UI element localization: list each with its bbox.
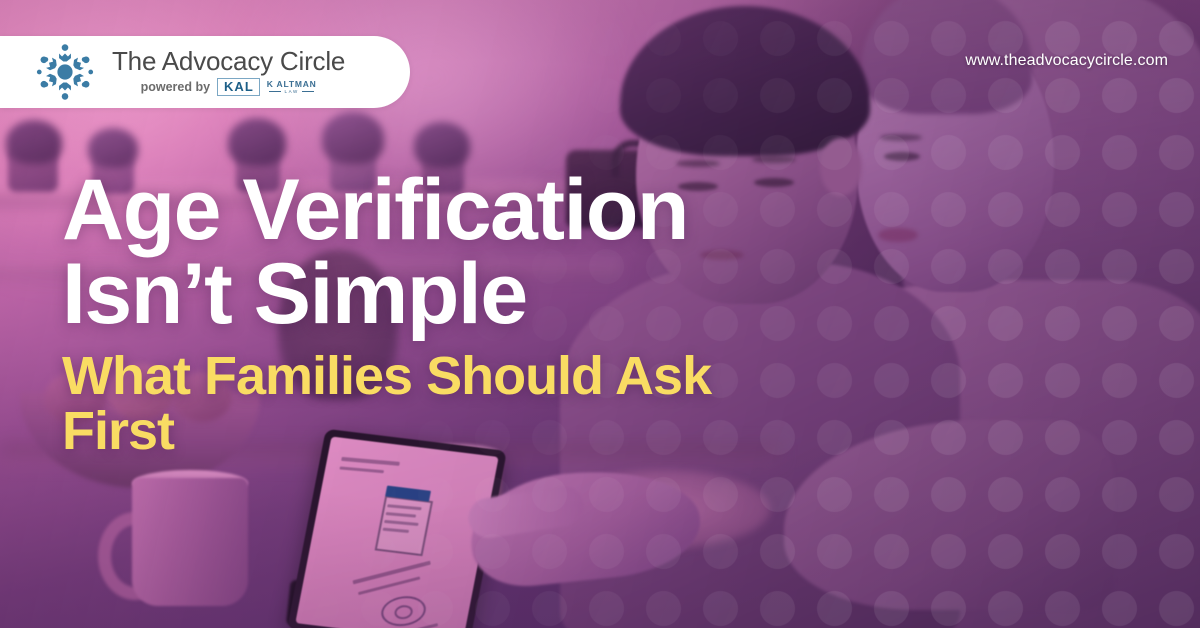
brand-title: The Advocacy Circle — [112, 48, 345, 75]
plant-foliage — [6, 120, 62, 164]
document-seal-icon — [380, 594, 426, 628]
woman-eye — [884, 152, 920, 161]
woman-eyebrow — [880, 134, 922, 141]
circle-of-people-icon — [32, 39, 98, 105]
rule-right — [302, 91, 314, 92]
partner-name-main: K ALTMAN — [267, 80, 317, 89]
plant-foliage — [228, 118, 286, 166]
partner-name-sub: LAW — [284, 90, 298, 95]
ceramic-mug — [132, 478, 248, 606]
woman-lips — [878, 228, 918, 242]
website-url[interactable]: www.theadvocacycircle.com — [965, 52, 1168, 70]
plant-foliage — [322, 112, 384, 164]
powered-by-label: powered by — [141, 80, 210, 94]
document-photo-box — [375, 495, 433, 556]
powered-by-row: powered by KAL K ALTMAN LAW — [141, 78, 317, 96]
kal-badge: KAL — [217, 78, 260, 96]
document-text-line — [353, 561, 431, 585]
page-subtitle: What Families Should Ask First — [62, 349, 822, 459]
page-title: Age Verification Isn’t Simple — [62, 168, 862, 337]
tablet-screen — [295, 436, 498, 628]
brand-logo-card[interactable]: The Advocacy Circle powered by KAL K ALT… — [0, 36, 410, 108]
rule-left — [269, 91, 281, 92]
k-altman-law-wordmark: K ALTMAN LAW — [267, 80, 317, 94]
hero-copy-block: Age Verification Isn’t Simple What Famil… — [62, 168, 862, 459]
boy-eyebrow — [752, 156, 796, 163]
document-text-line — [339, 466, 384, 473]
social-share-banner: The Advocacy Circle powered by KAL K ALT… — [0, 0, 1200, 628]
brand-text-block: The Advocacy Circle powered by KAL K ALT… — [112, 48, 345, 97]
partner-name-sub-row: LAW — [269, 90, 313, 95]
